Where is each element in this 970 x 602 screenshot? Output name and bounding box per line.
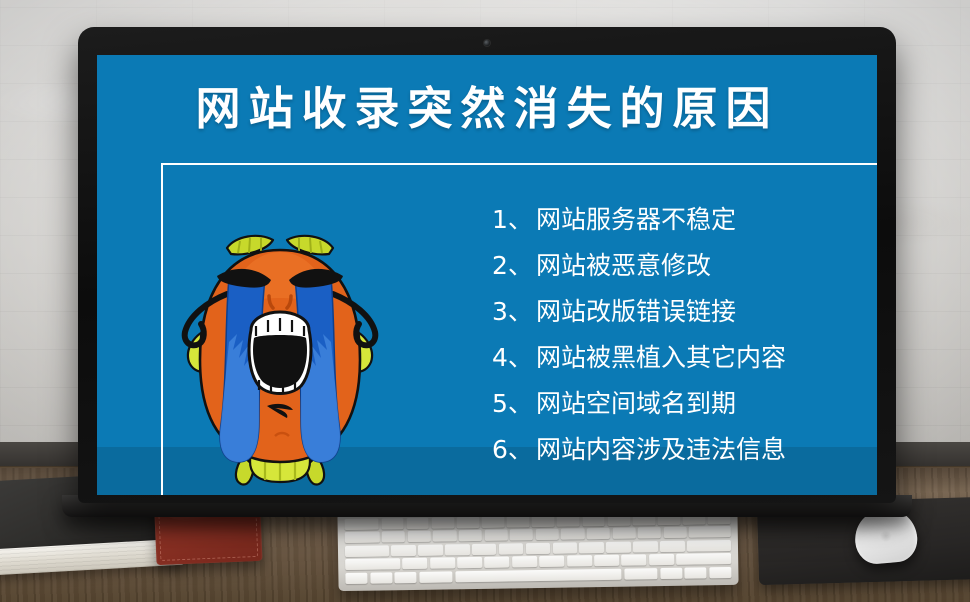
key[interactable] bbox=[370, 572, 392, 583]
screenshot-stage: 网站收录突然消失的原因 bbox=[0, 0, 970, 602]
laptop-lid: 网站收录突然消失的原因 bbox=[78, 27, 896, 503]
list-item-text: 网站改版错误链接 bbox=[536, 299, 736, 324]
key[interactable] bbox=[709, 567, 731, 578]
key[interactable] bbox=[402, 558, 427, 569]
key[interactable] bbox=[430, 557, 455, 568]
key[interactable] bbox=[633, 541, 658, 552]
list-item-text: 网站被黑植入其它内容 bbox=[536, 345, 786, 370]
key[interactable] bbox=[510, 529, 533, 540]
key[interactable] bbox=[676, 553, 731, 565]
key[interactable] bbox=[557, 515, 580, 526]
key[interactable] bbox=[472, 543, 497, 554]
list-item: 6、 网站内容涉及违法信息 bbox=[492, 437, 832, 462]
list-item-number: 3、 bbox=[492, 299, 536, 324]
key[interactable] bbox=[345, 545, 389, 557]
screen: 网站收录突然消失的原因 bbox=[97, 55, 877, 495]
key[interactable] bbox=[660, 567, 682, 578]
slide-title: 网站收录突然消失的原因 bbox=[97, 86, 877, 131]
list-item: 2、 网站被恶意修改 bbox=[492, 253, 832, 278]
webcam-icon bbox=[484, 40, 490, 46]
list-item-number: 2、 bbox=[492, 253, 536, 278]
list-item-text: 网站内容涉及违法信息 bbox=[536, 437, 786, 462]
list-item-number: 6、 bbox=[492, 437, 536, 462]
list-item: 3、 网站改版错误链接 bbox=[492, 299, 832, 324]
key[interactable] bbox=[484, 530, 507, 541]
keyboard[interactable] bbox=[337, 507, 738, 591]
key[interactable] bbox=[507, 516, 530, 527]
key[interactable] bbox=[391, 545, 416, 556]
key[interactable] bbox=[485, 557, 510, 568]
list-item-text: 网站被恶意修改 bbox=[536, 253, 711, 278]
key[interactable] bbox=[684, 567, 706, 578]
list-item-number: 1、 bbox=[492, 207, 536, 232]
key[interactable] bbox=[418, 544, 443, 555]
key[interactable] bbox=[561, 529, 584, 540]
key[interactable] bbox=[345, 572, 367, 583]
monster-mouth bbox=[249, 312, 311, 394]
key[interactable] bbox=[526, 543, 551, 554]
list-item: 5、 网站空间域名到期 bbox=[492, 391, 832, 416]
key[interactable] bbox=[407, 531, 430, 542]
key[interactable] bbox=[445, 544, 470, 555]
key[interactable] bbox=[499, 543, 524, 554]
key[interactable] bbox=[579, 542, 604, 553]
key[interactable] bbox=[624, 568, 658, 580]
key[interactable] bbox=[539, 556, 564, 567]
list-item-text: 网站服务器不稳定 bbox=[536, 207, 736, 232]
spacebar-key[interactable] bbox=[455, 568, 622, 582]
key[interactable] bbox=[606, 541, 631, 552]
list-item-text: 网站空间域名到期 bbox=[536, 391, 736, 416]
crying-monster-illustration bbox=[155, 210, 405, 495]
key[interactable] bbox=[535, 529, 558, 540]
key[interactable] bbox=[689, 526, 731, 538]
key[interactable] bbox=[381, 518, 404, 529]
key[interactable] bbox=[456, 517, 479, 528]
key[interactable] bbox=[482, 517, 505, 528]
key[interactable] bbox=[621, 554, 646, 565]
key[interactable] bbox=[660, 540, 685, 551]
list-item-number: 5、 bbox=[492, 391, 536, 416]
list-item: 1、 网站服务器不稳定 bbox=[492, 207, 832, 232]
key[interactable] bbox=[459, 530, 482, 541]
key[interactable] bbox=[512, 556, 537, 567]
key[interactable] bbox=[638, 527, 661, 538]
list-item: 4、 网站被黑植入其它内容 bbox=[492, 345, 832, 370]
key[interactable] bbox=[345, 558, 400, 570]
laptop: 网站收录突然消失的原因 bbox=[78, 27, 896, 509]
key[interactable] bbox=[395, 571, 417, 582]
key[interactable] bbox=[532, 516, 555, 527]
key[interactable] bbox=[431, 517, 454, 528]
key[interactable] bbox=[649, 554, 674, 565]
key[interactable] bbox=[419, 571, 453, 583]
key[interactable] bbox=[345, 518, 379, 530]
key[interactable] bbox=[587, 528, 610, 539]
key[interactable] bbox=[552, 542, 577, 553]
key[interactable] bbox=[382, 531, 405, 542]
key[interactable] bbox=[663, 527, 686, 538]
key[interactable] bbox=[612, 528, 635, 539]
key[interactable] bbox=[567, 555, 592, 566]
key[interactable] bbox=[406, 518, 429, 529]
list-item-number: 4、 bbox=[492, 345, 536, 370]
key[interactable] bbox=[433, 531, 456, 542]
slide-point-list: 1、 网站服务器不稳定 2、 网站被恶意修改 3、 网站改版错误链接 4、 网站… bbox=[492, 207, 832, 483]
key[interactable] bbox=[687, 540, 731, 552]
key[interactable] bbox=[345, 532, 380, 544]
key[interactable] bbox=[594, 555, 619, 566]
key[interactable] bbox=[457, 557, 482, 568]
